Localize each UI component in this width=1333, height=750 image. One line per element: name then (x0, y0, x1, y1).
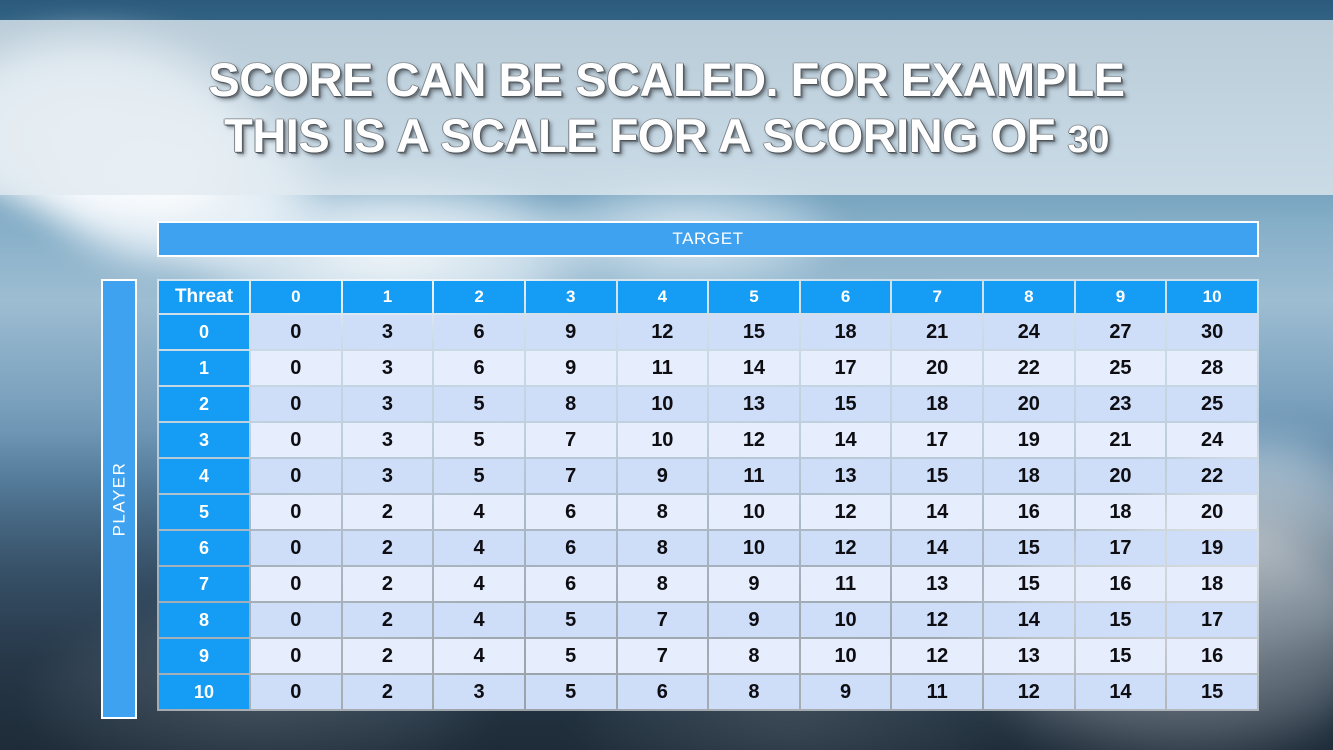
target-column-header: 7 (892, 281, 982, 313)
score-cell: 14 (801, 423, 891, 457)
score-cell: 0 (251, 315, 341, 349)
score-cell: 3 (343, 387, 433, 421)
score-cell: 0 (251, 531, 341, 565)
target-column-header: 2 (434, 281, 524, 313)
score-cell: 6 (618, 675, 708, 709)
score-cell: 30 (1167, 315, 1257, 349)
score-cell: 7 (526, 423, 616, 457)
page-title: Score can be scaled. For examplethis is … (208, 52, 1124, 163)
score-cell: 8 (618, 495, 708, 529)
score-cell: 4 (434, 567, 524, 601)
score-cell: 15 (984, 531, 1074, 565)
title-line-1: Score can be scaled. For example (208, 53, 1124, 106)
score-cell: 12 (801, 495, 891, 529)
score-cell: 2 (343, 531, 433, 565)
score-cell: 18 (801, 315, 891, 349)
score-matrix-container: Threat 012345678910 00369121518212427301… (157, 279, 1259, 711)
score-cell: 9 (526, 315, 616, 349)
target-column-header: 8 (984, 281, 1074, 313)
score-cell: 2 (343, 675, 433, 709)
score-cell: 17 (801, 351, 891, 385)
score-cell: 15 (1076, 603, 1166, 637)
score-cell: 25 (1167, 387, 1257, 421)
score-cell: 5 (434, 387, 524, 421)
score-cell: 5 (434, 423, 524, 457)
score-cell: 23 (1076, 387, 1166, 421)
target-column-header: 10 (1167, 281, 1257, 313)
player-row-header: 10 (159, 675, 249, 709)
score-cell: 6 (434, 315, 524, 349)
score-matrix-table: Threat 012345678910 00369121518212427301… (157, 279, 1259, 711)
score-cell: 10 (618, 387, 708, 421)
score-cell: 18 (1167, 567, 1257, 601)
score-cell: 8 (618, 567, 708, 601)
score-cell: 0 (251, 351, 341, 385)
target-column-header: 1 (343, 281, 433, 313)
score-cell: 5 (526, 639, 616, 673)
table-row: 90245781012131516 (159, 639, 1257, 673)
table-row: 0036912151821242730 (159, 315, 1257, 349)
score-cell: 6 (526, 567, 616, 601)
score-cell: 0 (251, 495, 341, 529)
score-cell: 17 (1167, 603, 1257, 637)
player-row-header: 4 (159, 459, 249, 493)
score-cell: 13 (984, 639, 1074, 673)
score-cell: 18 (892, 387, 982, 421)
score-cell: 6 (434, 351, 524, 385)
score-cell: 2 (343, 567, 433, 601)
score-cell: 0 (251, 639, 341, 673)
table-row: 403579111315182022 (159, 459, 1257, 493)
score-cell: 12 (709, 423, 799, 457)
table-row: 3035710121417192124 (159, 423, 1257, 457)
score-cell: 5 (526, 675, 616, 709)
score-cell: 11 (618, 351, 708, 385)
score-cell: 14 (984, 603, 1074, 637)
score-cell: 2 (343, 639, 433, 673)
player-row-header: 0 (159, 315, 249, 349)
player-row-header: 8 (159, 603, 249, 637)
score-cell: 15 (892, 459, 982, 493)
score-cell: 8 (618, 531, 708, 565)
target-column-header: 6 (801, 281, 891, 313)
title-scale-number: 30 (1068, 119, 1109, 161)
score-cell: 27 (1076, 315, 1166, 349)
table-row: 602468101214151719 (159, 531, 1257, 565)
score-cell: 15 (984, 567, 1074, 601)
score-cell: 7 (618, 603, 708, 637)
score-cell: 17 (892, 423, 982, 457)
score-cell: 0 (251, 675, 341, 709)
score-cell: 10 (801, 639, 891, 673)
score-cell: 10 (618, 423, 708, 457)
score-cell: 6 (526, 495, 616, 529)
player-row-header: 1 (159, 351, 249, 385)
score-cell: 0 (251, 459, 341, 493)
score-cell: 20 (984, 387, 1074, 421)
score-cell: 16 (984, 495, 1074, 529)
score-cell: 10 (709, 495, 799, 529)
score-cell: 8 (709, 675, 799, 709)
player-row-header: 7 (159, 567, 249, 601)
score-cell: 16 (1076, 567, 1166, 601)
score-cell: 0 (251, 423, 341, 457)
score-cell: 0 (251, 603, 341, 637)
table-row: 10023568911121415 (159, 675, 1257, 709)
score-cell: 11 (892, 675, 982, 709)
score-cell: 2 (343, 495, 433, 529)
score-cell: 25 (1076, 351, 1166, 385)
score-cell: 18 (984, 459, 1074, 493)
score-cell: 12 (801, 531, 891, 565)
score-cell: 24 (1167, 423, 1257, 457)
score-cell: 14 (709, 351, 799, 385)
score-cell: 22 (1167, 459, 1257, 493)
score-cell: 19 (984, 423, 1074, 457)
table-row: 502468101214161820 (159, 495, 1257, 529)
score-cell: 3 (434, 675, 524, 709)
player-row-header: 5 (159, 495, 249, 529)
table-row: 1036911141720222528 (159, 351, 1257, 385)
score-cell: 12 (618, 315, 708, 349)
player-axis-label: PLAYER (109, 462, 129, 537)
score-cell: 9 (709, 603, 799, 637)
score-cell: 15 (709, 315, 799, 349)
score-cell: 14 (892, 495, 982, 529)
score-cell: 21 (892, 315, 982, 349)
player-row-header: 3 (159, 423, 249, 457)
score-cell: 20 (892, 351, 982, 385)
score-cell: 4 (434, 639, 524, 673)
score-cell: 22 (984, 351, 1074, 385)
score-cell: 18 (1076, 495, 1166, 529)
score-cell: 16 (1167, 639, 1257, 673)
score-cell: 21 (1076, 423, 1166, 457)
score-cell: 28 (1167, 351, 1257, 385)
player-row-header: 9 (159, 639, 249, 673)
score-cell: 12 (984, 675, 1074, 709)
score-cell: 2 (343, 603, 433, 637)
table-row: 2035810131518202325 (159, 387, 1257, 421)
score-cell: 4 (434, 531, 524, 565)
target-column-header: 3 (526, 281, 616, 313)
score-cell: 9 (618, 459, 708, 493)
matrix-body: 0036912151821242730103691114172022252820… (159, 315, 1257, 709)
target-column-header: 4 (618, 281, 708, 313)
target-column-header: 5 (709, 281, 799, 313)
score-cell: 15 (801, 387, 891, 421)
player-row-header: 2 (159, 387, 249, 421)
score-cell: 10 (801, 603, 891, 637)
player-row-header: 6 (159, 531, 249, 565)
score-cell: 3 (343, 351, 433, 385)
score-cell: 14 (1076, 675, 1166, 709)
title-line-2: this is a scale for a scoring of (224, 109, 1067, 162)
score-cell: 12 (892, 639, 982, 673)
target-axis-banner: TARGET (157, 221, 1259, 257)
threat-corner-header: Threat (159, 281, 249, 313)
score-cell: 3 (343, 423, 433, 457)
score-cell: 24 (984, 315, 1074, 349)
score-cell: 11 (709, 459, 799, 493)
score-cell: 17 (1076, 531, 1166, 565)
score-cell: 5 (434, 459, 524, 493)
score-cell: 4 (434, 495, 524, 529)
score-cell: 0 (251, 567, 341, 601)
score-cell: 3 (343, 459, 433, 493)
title-banner: Score can be scaled. For examplethis is … (0, 20, 1333, 195)
score-cell: 7 (526, 459, 616, 493)
score-cell: 9 (801, 675, 891, 709)
score-cell: 6 (526, 531, 616, 565)
score-cell: 9 (526, 351, 616, 385)
table-row: 70246891113151618 (159, 567, 1257, 601)
score-cell: 8 (526, 387, 616, 421)
score-cell: 15 (1076, 639, 1166, 673)
score-cell: 19 (1167, 531, 1257, 565)
score-cell: 13 (801, 459, 891, 493)
score-cell: 20 (1167, 495, 1257, 529)
score-cell: 14 (892, 531, 982, 565)
player-axis-banner: PLAYER (101, 279, 137, 719)
score-cell: 13 (709, 387, 799, 421)
table-row: 80245791012141517 (159, 603, 1257, 637)
score-cell: 13 (892, 567, 982, 601)
matrix-head: Threat 012345678910 (159, 281, 1257, 313)
score-cell: 20 (1076, 459, 1166, 493)
score-cell: 4 (434, 603, 524, 637)
score-cell: 15 (1167, 675, 1257, 709)
score-cell: 7 (618, 639, 708, 673)
target-column-header: 0 (251, 281, 341, 313)
target-axis-label: TARGET (672, 229, 743, 249)
score-cell: 11 (801, 567, 891, 601)
score-cell: 8 (709, 639, 799, 673)
score-cell: 12 (892, 603, 982, 637)
target-column-header: 9 (1076, 281, 1166, 313)
score-cell: 5 (526, 603, 616, 637)
score-cell: 9 (709, 567, 799, 601)
slide-canvas: Score can be scaled. For examplethis is … (0, 0, 1333, 750)
matrix-header-row: Threat 012345678910 (159, 281, 1257, 313)
score-cell: 10 (709, 531, 799, 565)
score-cell: 3 (343, 315, 433, 349)
score-cell: 0 (251, 387, 341, 421)
